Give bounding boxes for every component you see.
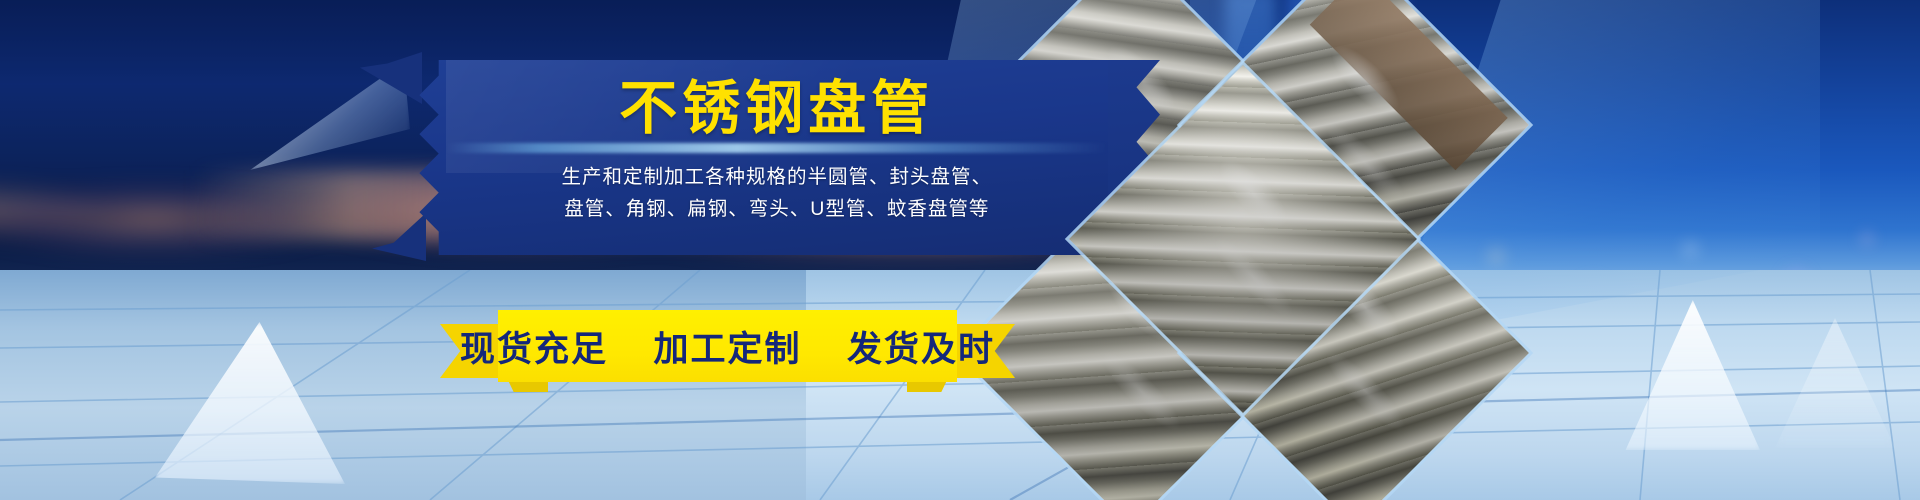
feature-ribbon: 现货充足 加工定制 发货及时	[440, 310, 1015, 392]
subtitle-line-2: 盘管、角钢、扁钢、弯头、U型管、蚊香盘管等	[562, 194, 993, 226]
headline-panel: 不锈钢盘管 生产和定制加工各种规格的半圆管、封头盘管、 盘管、角钢、扁钢、弯头、…	[418, 60, 1108, 255]
ribbon-text: 现货充足 加工定制 发货及时	[460, 321, 995, 372]
subtitle-line-1: 生产和定制加工各种规格的半圆管、封头盘管、	[562, 162, 993, 194]
ribbon-band: 现货充足 加工定制 发货及时	[498, 310, 957, 382]
title-divider	[446, 143, 1108, 153]
promo-banner: 不锈钢盘管 生产和定制加工各种规格的半圆管、封头盘管、 盘管、角钢、扁钢、弯头、…	[0, 0, 1920, 500]
page-title: 不锈钢盘管	[619, 78, 934, 139]
ribbon-item-3: 发货及时	[847, 330, 995, 369]
ribbon-item-2: 加工定制	[654, 330, 802, 369]
ribbon-item-1: 现货充足	[460, 330, 608, 369]
subtitle-block: 生产和定制加工各种规格的半圆管、封头盘管、 盘管、角钢、扁钢、弯头、U型管、蚊香…	[562, 162, 993, 225]
panel-content: 不锈钢盘管 生产和定制加工各种规格的半圆管、封头盘管、 盘管、角钢、扁钢、弯头、…	[446, 60, 1108, 255]
